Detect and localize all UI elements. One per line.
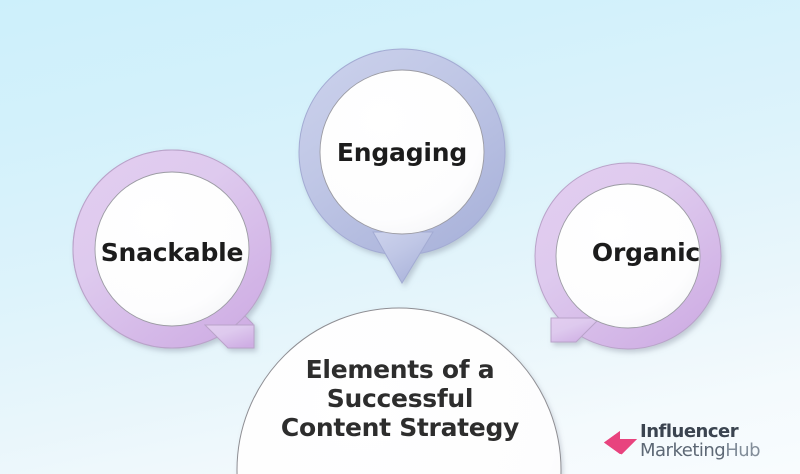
bubble-label-organic: Organic <box>546 238 746 267</box>
page-title-line-1: Elements of a <box>239 355 561 384</box>
brand-logo[interactable]: Influencer MarketingHub <box>604 423 760 460</box>
bubble-engaging-tail <box>373 232 433 283</box>
bubble-label-engaging: Engaging <box>298 138 506 167</box>
page-title-line-3: Content Strategy <box>239 413 561 442</box>
brand-logo-marketing: Marketing <box>640 440 725 461</box>
infographic-canvas: Snackable Engaging Organic Elements of a… <box>0 0 800 474</box>
brand-logo-hub: Hub <box>725 440 760 461</box>
page-title: Elements of a Successful Content Strateg… <box>239 355 561 442</box>
pink-arrow-mark-icon <box>604 427 638 459</box>
brand-logo-line-2: MarketingHub <box>640 442 760 461</box>
bubble-label-snackable: Snackable <box>70 238 274 267</box>
brand-logo-text: Influencer MarketingHub <box>640 423 760 460</box>
page-title-line-2: Successful <box>239 384 561 413</box>
